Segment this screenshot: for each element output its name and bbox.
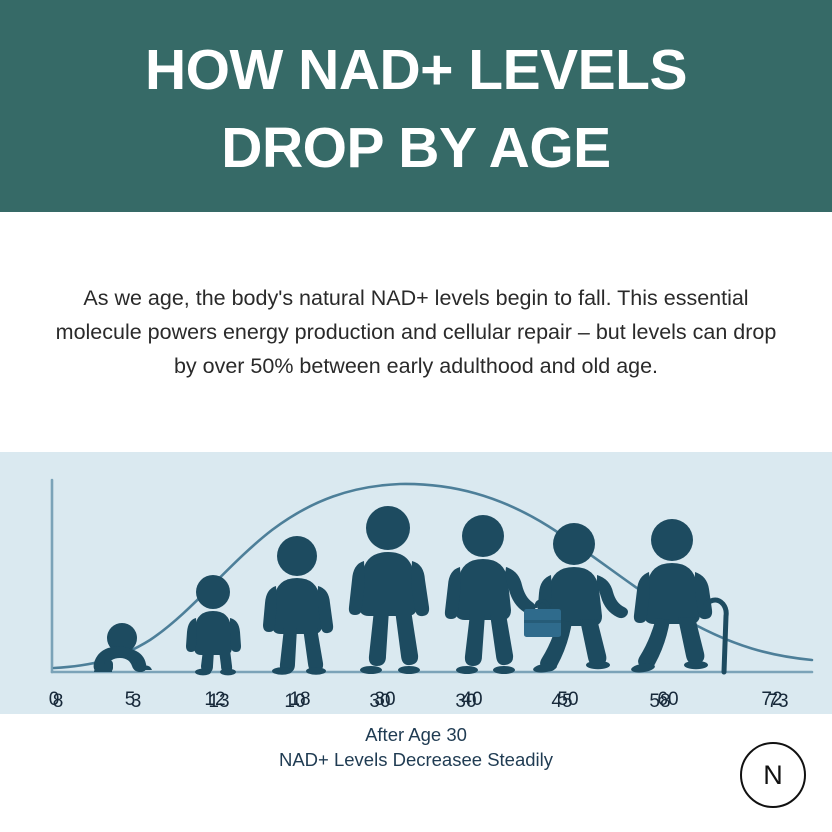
figure-elderly-with-cane [631, 519, 727, 674]
tick-label-secondary-1: 3 [131, 692, 142, 711]
chart-illustration-band [0, 452, 832, 714]
tick-label-secondary-7: 58 [649, 692, 670, 711]
figure-adult [445, 515, 536, 674]
intro-section: As we age, the body's natural NAD+ level… [0, 212, 832, 452]
chart-caption: After Age 30 NAD+ Levels Decreasee Stead… [0, 722, 832, 772]
tick-label-secondary-4: 30 [369, 692, 390, 711]
caption-line-1: After Age 30 [0, 722, 832, 747]
figure-child [263, 536, 333, 675]
tick-label-secondary-0: 8 [53, 692, 64, 711]
logo-letter-n: N [763, 762, 783, 789]
nad-level-curve-chart [0, 452, 832, 714]
figure-baby-crawling [94, 623, 152, 672]
intro-paragraph: As we age, the body's natural NAD+ level… [55, 281, 777, 383]
figure-teen [349, 506, 429, 674]
tick-label-secondary-3: 10 [284, 692, 305, 711]
tick-label-secondary-8: 73 [767, 692, 788, 711]
figure-businessman-with-briefcase [524, 523, 628, 674]
tick-label-secondary-2: 13 [208, 692, 229, 711]
page-title-line-1: HOW NAD+ LEVELS [145, 31, 687, 109]
brand-logo: N [740, 742, 806, 808]
figure-toddler [186, 575, 241, 675]
tick-label-secondary-5: 30 [455, 692, 476, 711]
tick-label-secondary-6: 45 [551, 692, 572, 711]
header-banner: HOW NAD+ LEVELS DROP BY AGE [0, 0, 832, 212]
caption-line-2: NAD+ Levels Decreasee Steadily [0, 747, 832, 772]
page-title-line-2: DROP BY AGE [221, 109, 610, 187]
